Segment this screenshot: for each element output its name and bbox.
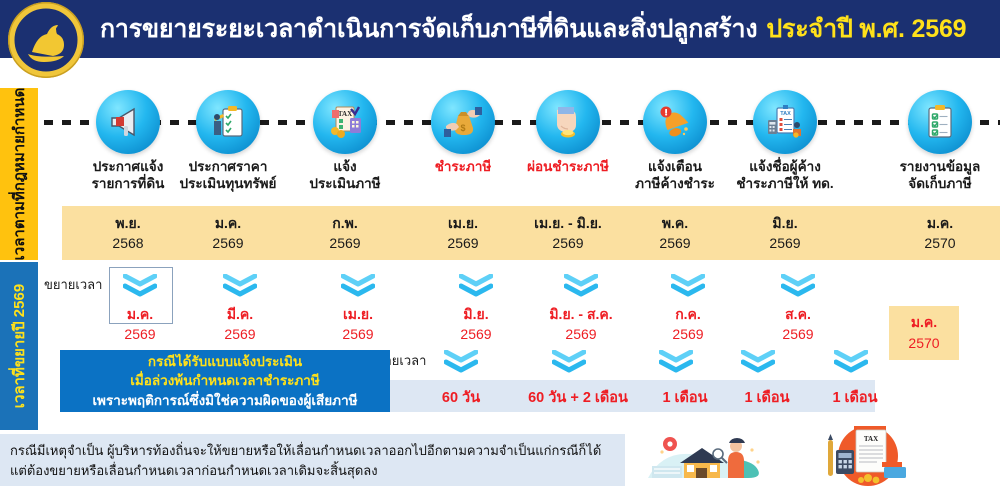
legal-date-6-year: 2569 xyxy=(615,233,735,253)
legal-date-8-year: 2570 xyxy=(880,233,1000,253)
tax-form-icon: TAX xyxy=(313,90,377,154)
svg-text:TAX: TAX xyxy=(338,110,352,118)
legal-date-5-month: เม.ย. - มิ.ย. xyxy=(508,213,628,233)
garuda-seal-icon xyxy=(8,2,84,78)
legal-date-7: มิ.ย. 2569 xyxy=(725,206,845,260)
stage-5-label: ผ่อนชำระภาษี xyxy=(508,159,628,176)
stage-7-label: แจ้งชื่อผู้ค้าง ชำระภาษีให้ ทด. xyxy=(725,159,845,193)
legal-date-8-month: ม.ค. xyxy=(880,213,1000,233)
legal-date-7-year: 2569 xyxy=(725,233,845,253)
svg-text:$: $ xyxy=(460,123,465,133)
footer-note-box: กรณีมีเหตุจำเป็น ผู้บริหารท้องถิ่นจะให้ข… xyxy=(0,434,625,486)
legal-date-6: พ.ค. 2569 xyxy=(615,206,735,260)
extension-date-7-month: ส.ค. xyxy=(738,304,858,324)
duration-2: 60 วัน + 2 เดือน xyxy=(508,386,648,409)
svg-text:TAX: TAX xyxy=(780,111,791,117)
stage-7[interactable]: TAX แจ้งชื่อผู้ค้าง ชำระภาษีให้ ทด. xyxy=(725,90,845,193)
tax-illustration-label: TAX xyxy=(864,435,878,443)
bell-alert-icon xyxy=(643,90,707,154)
chevron-down-icon-6 xyxy=(671,274,705,300)
page-title: การขยายระยะเวลาดำเนินการจัดเก็บภาษีที่ดิ… xyxy=(100,0,990,58)
stage-4[interactable]: $ ชำระภาษี xyxy=(403,90,523,176)
extension-date-6: ก.ค. 2569 xyxy=(628,304,748,345)
legal-date-3-month: ก.พ. xyxy=(285,213,405,233)
extension-date-4: มิ.ย. 2569 xyxy=(416,304,536,345)
chevron-down-icon-2 xyxy=(223,274,257,300)
stage-2[interactable]: ประกาศราคา ประเมินทุนทรัพย์ xyxy=(168,90,288,193)
assessment-note-line-1: กรณีได้รับแบบแจ้งประเมิน xyxy=(148,352,302,371)
extension-date-5-year: 2569 xyxy=(521,324,641,344)
extension-date-3-month: เม.ย. xyxy=(298,304,418,324)
megaphone-icon xyxy=(96,90,160,154)
chevron-down-icon-1 xyxy=(123,274,157,300)
legal-date-2-month: ม.ค. xyxy=(168,213,288,233)
duration-1: 60 วัน xyxy=(416,386,506,409)
chevron-down-icon-5 xyxy=(564,274,598,300)
legal-date-4-month: เม.ย. xyxy=(403,213,523,233)
rail-legal-label: เวลาตามที่กฎหมายกำหนด xyxy=(7,88,31,261)
final-month-box: ม.ค. 2570 xyxy=(889,306,959,360)
assessment-note-line-3: เพราะพฤติการณ์ซึ่งมิใช่ความผิดของผู้เสีย… xyxy=(92,391,357,410)
money-bag-icon: $ xyxy=(431,90,495,154)
rail-legal-timeline: เวลาตามที่กฎหมายกำหนด xyxy=(0,88,38,260)
legal-date-2: ม.ค. 2569 xyxy=(168,206,288,260)
stage-6-label: แจ้งเตือน ภาษีค้างชำระ xyxy=(615,159,735,193)
checklist-icon xyxy=(908,90,972,154)
legal-date-3-year: 2569 xyxy=(285,233,405,253)
footer-note-line-1: กรณีมีเหตุจำเป็น ผู้บริหารท้องถิ่นจะให้ข… xyxy=(10,441,615,461)
tax-document-illustration: TAX xyxy=(810,424,930,486)
stage-8-label: รายงานข้อมูล จัดเก็บภาษี xyxy=(880,159,1000,193)
seal-artwork xyxy=(8,2,84,78)
chevron-down-icon-10 xyxy=(659,350,693,376)
extension-date-6-year: 2569 xyxy=(628,324,748,344)
extension-date-2-month: มี.ค. xyxy=(180,304,300,324)
assessment-note-line-2: เมื่อล่วงพ้นกำหนดเวลาชำระภาษี xyxy=(130,371,320,390)
chevron-down-icon-7 xyxy=(781,274,815,300)
house-survey-illustration xyxy=(640,432,800,486)
stage-3-label: แจ้ง ประเมินภาษี xyxy=(285,159,405,193)
legal-date-7-month: มิ.ย. xyxy=(725,213,845,233)
duration-4: 1 เดือน xyxy=(728,386,806,409)
legal-date-2-year: 2569 xyxy=(168,233,288,253)
extension-date-3: เม.ย. 2569 xyxy=(298,304,418,345)
extension-date-6-month: ก.ค. xyxy=(628,304,748,324)
extension-date-5: มิ.ย. - ส.ค. 2569 xyxy=(521,304,641,345)
extension-date-3-year: 2569 xyxy=(298,324,418,344)
extension-zone: ขยายเวลา ขยายเวลา ม.ค. 2569 มี.ค. 2569 เ… xyxy=(38,262,1000,430)
extension-date-5-month: มิ.ย. - ส.ค. xyxy=(521,304,641,324)
chevron-down-icon-4 xyxy=(459,274,493,300)
extension-date-2: มี.ค. 2569 xyxy=(180,304,300,345)
clipboard-person-icon xyxy=(196,90,260,154)
chevron-down-icon-3 xyxy=(341,274,375,300)
stage-6[interactable]: แจ้งเตือน ภาษีค้างชำระ xyxy=(615,90,735,193)
extension-date-7-year: 2569 xyxy=(738,324,858,344)
duration-3: 1 เดือน xyxy=(646,386,724,409)
legal-date-5-year: 2569 xyxy=(508,233,628,253)
stage-3[interactable]: TAX แจ้ง ประเมินภาษี xyxy=(285,90,405,193)
final-month-label: ม.ค. xyxy=(889,312,959,333)
legal-date-8: ม.ค. 2570 xyxy=(880,206,1000,260)
rail-extension-label: เวลาที่ขยายปี 2569 xyxy=(7,284,31,408)
extension-date-4-year: 2569 xyxy=(416,324,536,344)
chevron-down-icon-11 xyxy=(741,350,775,376)
page-title-year: ประจำปี พ.ศ. 2569 xyxy=(766,9,966,49)
chevron-down-icon-9 xyxy=(552,350,586,376)
chevron-down-icon-8 xyxy=(444,350,478,376)
legal-date-4: เม.ย. 2569 xyxy=(403,206,523,260)
legal-date-6-month: พ.ค. xyxy=(615,213,735,233)
coin-hand-icon xyxy=(536,90,600,154)
stage-5[interactable]: ผ่อนชำระภาษี xyxy=(508,90,628,176)
stage-2-label: ประกาศราคา ประเมินทุนทรัพย์ xyxy=(168,159,288,193)
legal-date-4-year: 2569 xyxy=(403,233,523,253)
chevron-down-icon-12 xyxy=(834,350,868,376)
assessment-note-box: กรณีได้รับแบบแจ้งประเมิน เมื่อล่วงพ้นกำห… xyxy=(60,350,390,412)
extension-date-7: ส.ค. 2569 xyxy=(738,304,858,345)
page-title-main: การขยายระยะเวลาดำเนินการจัดเก็บภาษีที่ดิ… xyxy=(100,9,757,49)
stage-8[interactable]: รายงานข้อมูล จัดเก็บภาษี xyxy=(880,90,1000,193)
legal-date-3: ก.พ. 2569 xyxy=(285,206,405,260)
extension-date-4-month: มิ.ย. xyxy=(416,304,536,324)
legal-date-5: เม.ย. - มิ.ย. 2569 xyxy=(508,206,628,260)
duration-5: 1 เดือน xyxy=(816,386,894,409)
header-bar: การขยายระยะเวลาดำเนินการจัดเก็บภาษีที่ดิ… xyxy=(0,0,1000,58)
extend-label-top: ขยายเวลา xyxy=(44,274,102,295)
tax-report-icon: TAX xyxy=(753,90,817,154)
footer-note-line-2: แต่ต้องขยายหรือเลื่อนกำหนดเวลาก่อนกำหนดเ… xyxy=(10,461,615,481)
legal-dates-band: พ.ย. 2568 ม.ค. 2569 ก.พ. 2569 เม.ย. 2569… xyxy=(62,206,1000,260)
stage-4-label: ชำระภาษี xyxy=(403,159,523,176)
rail-extension-timeline: เวลาที่ขยายปี 2569 xyxy=(0,262,38,430)
final-year-label: 2570 xyxy=(889,333,959,354)
extension-date-2-year: 2569 xyxy=(180,324,300,344)
